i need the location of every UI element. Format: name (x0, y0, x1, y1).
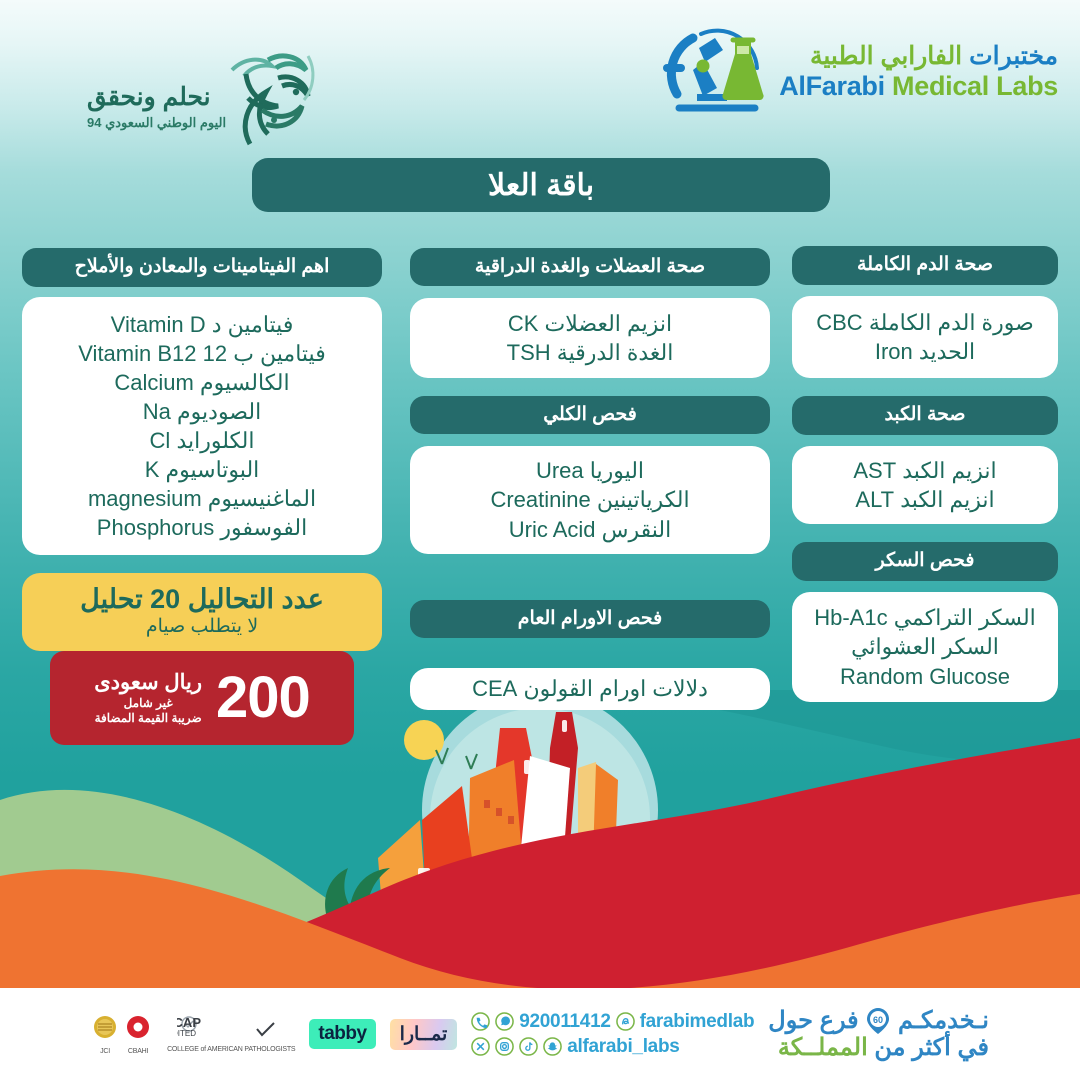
price-vat-note: غير شامل ضريبة القيمة المضافة (94, 696, 202, 725)
list-item: Random Glucose (840, 662, 1010, 691)
list-item: دلالات اورام القولون CEA (472, 674, 708, 703)
section-header-liver: صحة الكبد (792, 396, 1058, 435)
vat-line-2: ضريبة القيمة المضافة (94, 711, 202, 725)
cap-fine-print: COLLEGE of AMERICAN PATHOLOGISTS (167, 1046, 295, 1053)
national-day-logo: نحلم ونحقق اليوم الوطني السعودي 94 (42, 26, 292, 126)
national-day-subtitle: اليوم الوطني السعودي 94 (87, 115, 226, 131)
jci-badge: JCI (91, 1013, 119, 1055)
contact-row-social: alfarabi_labs (471, 1036, 754, 1058)
list-item: الكلورايد Cl (150, 426, 255, 455)
brand-name-english: AlFarabi Medical Labs (779, 71, 1058, 102)
location-pin-icon: 60 (865, 1007, 891, 1035)
branches-text-serve: نـخدمكـم (898, 1007, 989, 1034)
phone-number[interactable]: 920011412 (519, 1011, 610, 1033)
national-day-title: نحلم ونحقق (87, 84, 226, 112)
svg-text:CAP: CAP (177, 1015, 201, 1030)
svg-text:ACCREDITED: ACCREDITED (177, 1029, 196, 1038)
branches-text-morethan: في أكثر من (874, 1034, 989, 1061)
contact-row-phone: 920011412 farabimedlab (471, 1011, 754, 1033)
price-details: ريال سعودى غير شامل ضريبة القيمة المضافة (94, 671, 202, 725)
section-header-sugar: فحص السكر (792, 542, 1058, 581)
branches-line-1: نـخدمكـم 60 فرع حول (768, 1007, 989, 1035)
poster-canvas: نحلم ونحقق اليوم الوطني السعودي 94 مختبر… (0, 0, 1080, 1080)
jci-icon (91, 1013, 119, 1043)
section-header-muscle-thyroid: صحة العضلات والغدة الدراقية (410, 248, 770, 286)
price-amount: 200 (216, 669, 310, 727)
footer: نـخدمكـم 60 فرع حول في أكثر من المملــكة (0, 988, 1080, 1080)
price-box: 200 ريال سعودى غير شامل ضريبة القيمة الم… (50, 651, 354, 745)
list-item: البوتاسيوم K (145, 455, 260, 484)
brand-arabic-part1: مختبرات (969, 42, 1058, 70)
phone-icon[interactable] (471, 1012, 490, 1031)
list-item: الماغنيسيوم magnesium (88, 484, 316, 513)
list-item: انزيم الكبد ALT (855, 485, 994, 514)
list-item: فيتامين ب 12 Vitamin B12 (78, 339, 325, 368)
brand-arabic-part2: الفارابي الطبية (810, 42, 962, 70)
list-item: صورة الدم الكاملة CBC (816, 308, 1034, 337)
section-header-tumor: فحص الاورام العام (410, 600, 770, 638)
list-item: انزيم الكبد AST (853, 456, 996, 485)
list-item: الحديد Iron (875, 337, 975, 366)
brand-name-arabic: مختبرات الفارابي الطبية (779, 42, 1058, 71)
branches-text-branch: فرع حول (768, 1007, 858, 1034)
list-item: الصوديوم Na (143, 397, 261, 426)
branches-line-2: في أكثر من المملــكة (768, 1035, 989, 1061)
section-header-blood: صحة الدم الكاملة (792, 246, 1058, 285)
no-fasting-label: لا يتطلب صيام (146, 616, 258, 639)
list-item: الكرياتينين Creatinine (490, 485, 689, 514)
list-item: الغدة الدرقية TSH (507, 338, 674, 367)
tests-count-badge: عدد التحاليل 20 تحليل لا يتطلب صيام (22, 573, 382, 651)
list-item: السكر التراكمي Hb-A1c (814, 603, 1036, 632)
section-card-sugar: السكر التراكمي Hb-A1c السكر العشوائي Ran… (792, 592, 1058, 702)
cbahi-badge: CBAHI (123, 1013, 153, 1055)
list-item: السكر العشوائي (851, 632, 999, 661)
tamara-badge[interactable]: تمــارا (390, 1019, 458, 1050)
national-day-calligraphy-icon (210, 48, 338, 152)
x-icon[interactable] (471, 1037, 490, 1056)
section-card-blood: صورة الدم الكاملة CBC الحديد Iron (792, 296, 1058, 378)
cap-badge: CAP ACCREDITED COLLEGE of AMERICAN PATHO… (167, 1015, 295, 1053)
national-day-text: نحلم ونحقق اليوم الوطني السعودي 94 (87, 84, 226, 131)
brand-logo-block: مختبرات الفارابي الطبية AlFarabi Medical… (663, 22, 1058, 122)
cap-accredited-icon: CAP ACCREDITED (177, 1015, 285, 1041)
list-item: الفوسفور Phosphorus (97, 513, 307, 542)
jci-label: JCI (91, 1048, 119, 1055)
whatsapp-icon[interactable] (495, 1012, 514, 1031)
accreditation-logos: CBAHI JCI (91, 1013, 153, 1055)
list-item: النقرس Uric Acid (509, 515, 672, 544)
social-handle[interactable]: alfarabi_labs (567, 1036, 679, 1058)
price-currency: ريال سعودى (94, 671, 202, 694)
branches-text-kingdom: المملــكة (778, 1034, 868, 1061)
snapchat-icon[interactable] (543, 1037, 562, 1056)
cbahi-icon (123, 1013, 153, 1043)
cbahi-label: CBAHI (123, 1048, 153, 1055)
svg-text:60: 60 (873, 1015, 883, 1025)
instagram-icon[interactable] (495, 1037, 514, 1056)
brand-english-part1: AlFarabi (779, 71, 885, 101)
list-item: الكالسيوم Calcium (114, 368, 289, 397)
section-card-muscle-thyroid: انزيم العضلات CK الغدة الدرقية TSH (410, 298, 770, 378)
tabby-badge[interactable]: tabby (309, 1019, 375, 1049)
section-header-vitamins: اهم الفيتامينات والمعادن والأملاح (22, 248, 382, 287)
tiktok-icon[interactable] (519, 1037, 538, 1056)
threads-icon[interactable] (616, 1012, 635, 1031)
section-card-tumor: دلالات اورام القولون CEA (410, 668, 770, 710)
list-item: انزيم العضلات CK (508, 309, 672, 338)
brand-name: مختبرات الفارابي الطبية AlFarabi Medical… (779, 42, 1058, 102)
brand-english-part2: Medical Labs (892, 71, 1058, 101)
microscope-flask-icon (663, 24, 769, 120)
branches-banner: نـخدمكـم 60 فرع حول في أكثر من المملــكة (768, 1007, 989, 1061)
threads-handle[interactable]: farabimedlab (640, 1011, 755, 1033)
list-item: اليوريا Urea (536, 456, 644, 485)
section-header-kidney: فحص الكلي (410, 396, 770, 434)
header: نحلم ونحقق اليوم الوطني السعودي 94 مختبر… (0, 0, 1080, 140)
page-title: باقة العلا (252, 158, 830, 212)
tests-count-label: عدد التحاليل 20 تحليل (80, 585, 324, 615)
section-card-liver: انزيم الكبد AST انزيم الكبد ALT (792, 446, 1058, 524)
list-item: فيتامين د Vitamin D (111, 310, 294, 339)
section-card-vitamins: فيتامين د Vitamin D فيتامين ب 12 Vitamin… (22, 297, 382, 555)
vat-line-1: غير شامل (94, 696, 202, 710)
section-card-kidney: اليوريا Urea الكرياتينين Creatinine النق… (410, 446, 770, 554)
contact-block: 920011412 farabimedlab (471, 1011, 754, 1058)
